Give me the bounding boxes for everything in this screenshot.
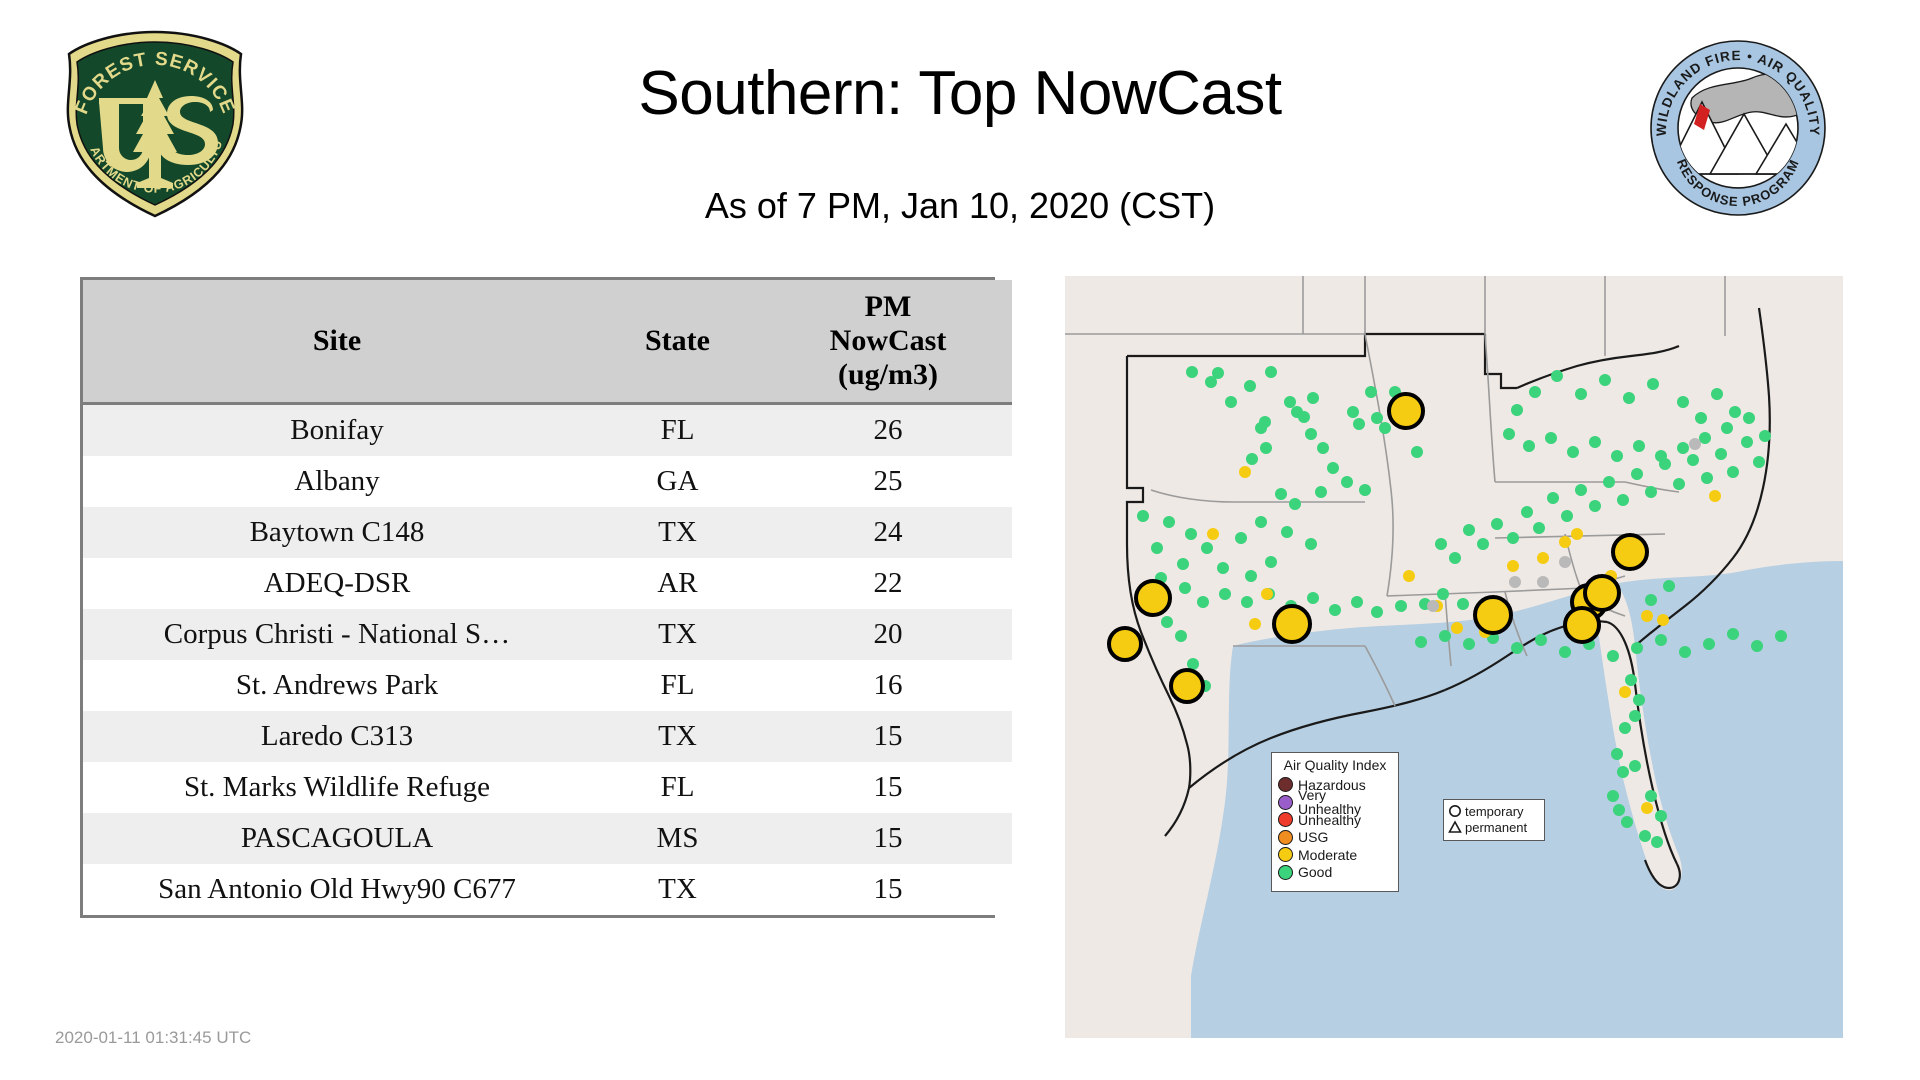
aqi-legend-swatch xyxy=(1278,830,1293,845)
cell-state: AR xyxy=(591,558,764,609)
aqi-legend-swatch xyxy=(1278,812,1293,827)
column-header-state: State xyxy=(591,280,764,403)
column-header-pm-nowcast: PM NowCast (ug/m3) xyxy=(764,280,1012,403)
cell-pm-nowcast: 20 xyxy=(764,609,1012,660)
cell-pm-nowcast: 15 xyxy=(764,762,1012,813)
table-header: Site State PM NowCast (ug/m3) xyxy=(83,280,1012,403)
table-body: BonifayFL26AlbanyGA25Baytown C148TX24ADE… xyxy=(83,403,1012,915)
cell-pm-nowcast: 15 xyxy=(764,813,1012,864)
aqi-legend-label: Unhealthy xyxy=(1298,813,1361,827)
pm-header-line-1: PM xyxy=(768,290,1008,324)
cell-site: Baytown C148 xyxy=(83,507,591,558)
table-row: ADEQ-DSRAR22 xyxy=(83,558,1012,609)
cell-pm-nowcast: 25 xyxy=(764,456,1012,507)
column-header-site: Site xyxy=(83,280,591,403)
top-nowcast-table-container: Site State PM NowCast (ug/m3) BonifayFL2… xyxy=(80,277,995,918)
site-type-permanent-row: permanent xyxy=(1448,819,1540,835)
page-title: Southern: Top NowCast xyxy=(0,58,1920,129)
southern-region-monitor-map[interactable] xyxy=(1065,276,1843,1038)
cell-state: FL xyxy=(591,403,764,456)
pm-header-line-3: (ug/m3) xyxy=(768,358,1008,392)
aqi-legend-label: Moderate xyxy=(1298,848,1357,862)
cell-pm-nowcast: 15 xyxy=(764,864,1012,915)
table-header-row: Site State PM NowCast (ug/m3) xyxy=(83,280,1012,403)
page-subtitle: As of 7 PM, Jan 10, 2020 (CST) xyxy=(0,185,1920,227)
aqi-legend-row: Moderate xyxy=(1278,846,1392,864)
site-type-permanent-label: permanent xyxy=(1465,820,1527,835)
triangle-marker-icon xyxy=(1448,820,1462,835)
cell-pm-nowcast: 24 xyxy=(764,507,1012,558)
table-row: Baytown C148TX24 xyxy=(83,507,1012,558)
cell-site: PASCAGOULA xyxy=(83,813,591,864)
table-row: AlbanyGA25 xyxy=(83,456,1012,507)
table-row: BonifayFL26 xyxy=(83,403,1012,456)
cell-site: San Antonio Old Hwy90 C677 xyxy=(83,864,591,915)
table-row: PASCAGOULAMS15 xyxy=(83,813,1012,864)
cell-site: Laredo C313 xyxy=(83,711,591,762)
aqi-legend-swatch xyxy=(1278,795,1293,810)
aqi-legend-row: USG xyxy=(1278,829,1392,847)
pm-header-line-2: NowCast xyxy=(768,324,1008,358)
cell-state: TX xyxy=(591,864,764,915)
cell-state: GA xyxy=(591,456,764,507)
cell-state: TX xyxy=(591,609,764,660)
cell-state: TX xyxy=(591,711,764,762)
circle-marker-icon xyxy=(1448,804,1462,819)
aqi-legend-swatch xyxy=(1278,777,1293,792)
cell-state: FL xyxy=(591,762,764,813)
table-row: St. Andrews ParkFL16 xyxy=(83,660,1012,711)
cell-site: Albany xyxy=(83,456,591,507)
generation-timestamp: 2020-01-11 01:31:45 UTC xyxy=(55,1028,251,1048)
cell-pm-nowcast: 16 xyxy=(764,660,1012,711)
site-type-temporary-row: temporary xyxy=(1448,803,1540,819)
table-row: St. Marks Wildlife RefugeFL15 xyxy=(83,762,1012,813)
site-type-legend: temporary permanent xyxy=(1443,799,1545,841)
cell-site: ADEQ-DSR xyxy=(83,558,591,609)
aqi-legend-label: Good xyxy=(1298,865,1332,879)
cell-site: Bonifay xyxy=(83,403,591,456)
aqi-legend-label: USG xyxy=(1298,830,1328,844)
cell-site: Corpus Christi - National S… xyxy=(83,609,591,660)
cell-pm-nowcast: 22 xyxy=(764,558,1012,609)
top-nowcast-table: Site State PM NowCast (ug/m3) BonifayFL2… xyxy=(83,280,1012,915)
cell-pm-nowcast: 15 xyxy=(764,711,1012,762)
air-quality-index-legend: Air Quality Index HazardousVery Unhealth… xyxy=(1271,752,1399,892)
aqi-legend-swatch xyxy=(1278,865,1293,880)
aqi-legend-title: Air Quality Index xyxy=(1278,757,1392,773)
aqi-legend-swatch xyxy=(1278,847,1293,862)
site-type-temporary-label: temporary xyxy=(1465,804,1524,819)
table-row: Laredo C313TX15 xyxy=(83,711,1012,762)
table-row: Corpus Christi - National S…TX20 xyxy=(83,609,1012,660)
aqi-legend-row: Very Unhealthy xyxy=(1278,794,1392,812)
cell-site: St. Marks Wildlife Refuge xyxy=(83,762,591,813)
cell-state: FL xyxy=(591,660,764,711)
aqi-legend-row: Good xyxy=(1278,864,1392,882)
cell-state: MS xyxy=(591,813,764,864)
table-row: San Antonio Old Hwy90 C677TX15 xyxy=(83,864,1012,915)
cell-site: St. Andrews Park xyxy=(83,660,591,711)
cell-state: TX xyxy=(591,507,764,558)
cell-pm-nowcast: 26 xyxy=(764,403,1012,456)
